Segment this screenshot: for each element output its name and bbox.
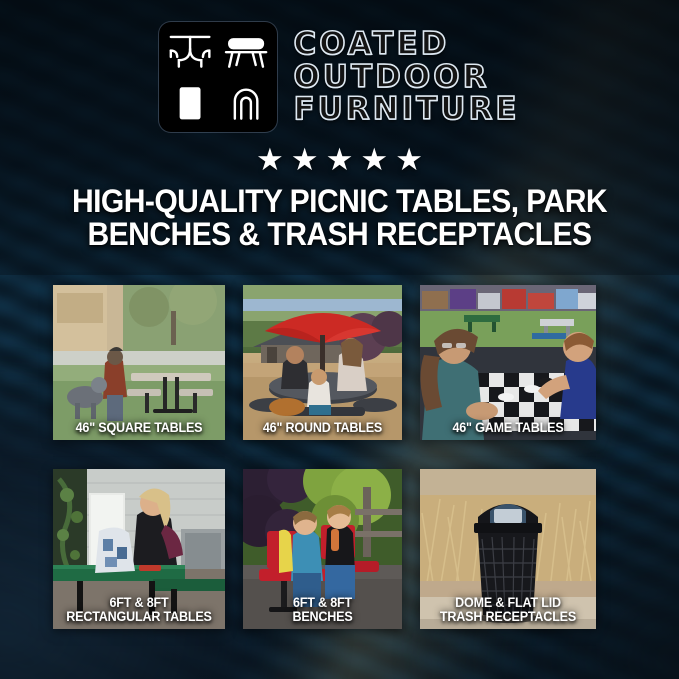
caption-line: 46" GAME TABLES	[426, 421, 590, 435]
product-tile-rectangular-tables[interactable]: 6FT & 8FT RECTANGULAR TABLES	[53, 469, 225, 629]
wordmark-line-2: OUTDOOR	[293, 62, 519, 92]
star-icon: ★	[256, 144, 284, 175]
wordmark-line-3: FURNITURE	[293, 94, 519, 124]
product-caption: DOME & FLAT LID TRASH RECEPTACLES	[426, 596, 590, 624]
caption-line: BENCHES	[249, 610, 397, 624]
caption-line: 6FT & 8FT	[249, 596, 397, 610]
headline-line-2: BENCHES & TRASH RECEPTACLES	[20, 218, 658, 251]
five-star-rating: ★ ★ ★ ★ ★	[0, 144, 679, 175]
product-caption: 46" GAME TABLES	[426, 421, 590, 435]
product-tile-game-tables[interactable]: 46" GAME TABLES	[420, 285, 596, 440]
product-photo	[420, 285, 596, 440]
caption-line: 46" SQUARE TABLES	[59, 421, 219, 435]
banner-header: COATED OUTDOOR FURNITURE ★ ★ ★ ★ ★ HIGH-…	[0, 0, 679, 252]
product-photo	[53, 285, 225, 440]
product-tile-trash-receptacles[interactable]: DOME & FLAT LID TRASH RECEPTACLES	[420, 469, 596, 629]
coated-outdoor-furniture-banner: COATED OUTDOOR FURNITURE ★ ★ ★ ★ ★ HIGH-…	[0, 0, 679, 679]
wordmark-line-1: COATED	[293, 29, 519, 59]
headline-line-1: HIGH-QUALITY PICNIC TABLES, PARK	[20, 185, 658, 218]
picnic-table-icon	[162, 25, 218, 77]
star-icon: ★	[395, 144, 423, 175]
star-icon: ★	[360, 144, 388, 175]
product-caption: 6FT & 8FT RECTANGULAR TABLES	[59, 596, 219, 624]
bike-rack-icon	[218, 77, 274, 129]
product-category-grid: 46" SQUARE TABLES	[53, 285, 619, 629]
product-caption: 6FT & 8FT BENCHES	[249, 596, 397, 624]
caption-line: TRASH RECEPTACLES	[426, 610, 590, 624]
brand-lockup: COATED OUTDOOR FURNITURE	[0, 0, 679, 132]
product-caption: 46" SQUARE TABLES	[59, 421, 219, 435]
caption-line: 6FT & 8FT	[59, 596, 219, 610]
trash-receptacle-icon	[162, 77, 218, 129]
star-icon: ★	[326, 144, 354, 175]
park-bench-icon	[218, 25, 274, 77]
caption-line: DOME & FLAT LID	[426, 596, 590, 610]
product-tile-round-tables[interactable]: 46" ROUND TABLES	[243, 285, 402, 440]
furniture-grid-logo	[159, 22, 277, 132]
star-icon: ★	[291, 144, 319, 175]
caption-line: 46" ROUND TABLES	[249, 421, 397, 435]
product-caption: 46" ROUND TABLES	[249, 421, 397, 435]
brand-wordmark: COATED OUTDOOR FURNITURE	[293, 29, 519, 124]
product-photo	[243, 285, 402, 440]
caption-line: RECTANGULAR TABLES	[59, 610, 219, 624]
page-title: HIGH-QUALITY PICNIC TABLES, PARK BENCHES…	[20, 185, 658, 252]
product-tile-square-tables[interactable]: 46" SQUARE TABLES	[53, 285, 225, 440]
product-tile-benches[interactable]: 6FT & 8FT BENCHES	[243, 469, 402, 629]
